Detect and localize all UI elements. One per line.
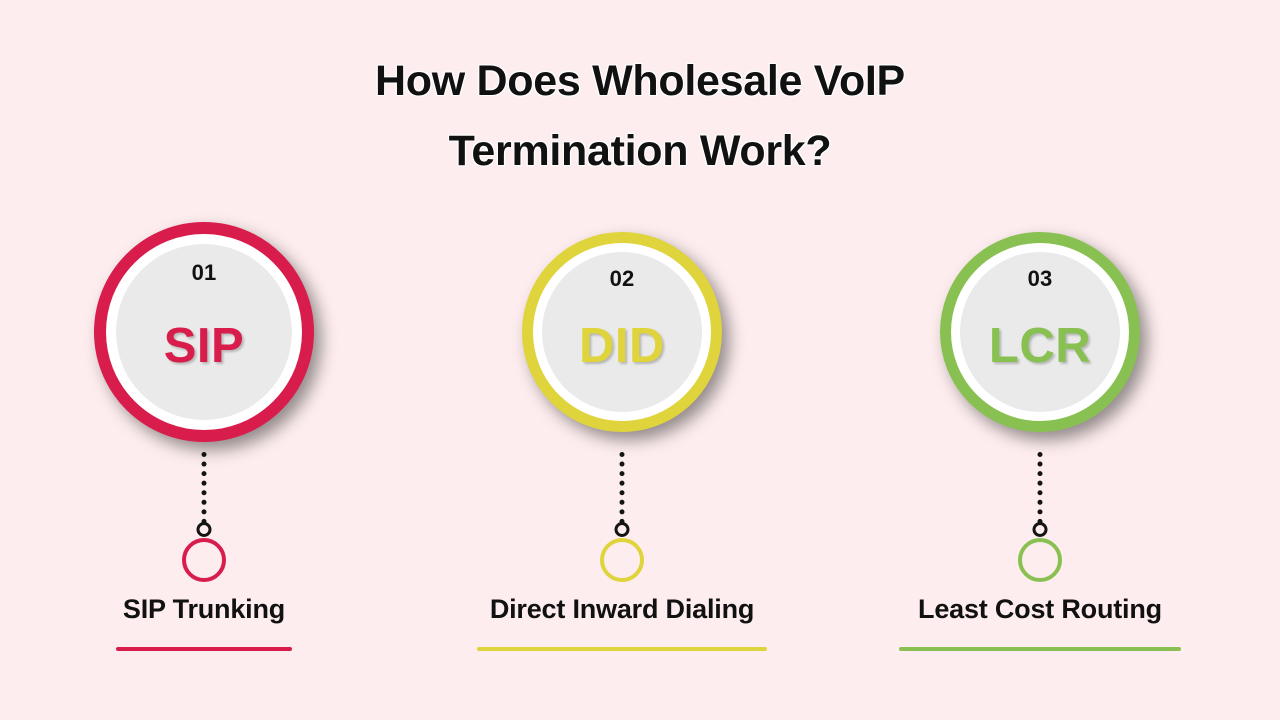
step-item-1: 01 SIP SIP Trunking [14,0,394,720]
step-badge-3[interactable]: 03 LCR [940,232,1140,432]
step-item-2: 02 DID Direct Inward Dialing [432,0,812,720]
step-abbr-2: DID [542,318,702,374]
step-item-3: 03 LCR Least Cost Routing [850,0,1230,720]
connector-dot-icon-1 [197,522,212,537]
step-badge-inner-1: 01 SIP [116,244,292,420]
step-caption-3: Least Cost Routing [850,594,1230,625]
step-abbr-3: LCR [960,318,1120,374]
connector-dot-icon-2 [615,522,630,537]
connector-ring-icon-3 [1018,538,1062,582]
step-badge-inner-3: 03 LCR [960,252,1120,412]
step-number-2: 02 [542,266,702,292]
connector-dotted-line-2 [620,452,625,524]
steps-container: 01 SIP SIP Trunking 02 DID [0,0,1280,720]
infographic-canvas: How Does Wholesale VoIP Termination Work… [0,0,1280,720]
step-caption-underline-3 [899,647,1181,651]
connector-dotted-line-1 [202,452,207,524]
step-caption-underline-1 [116,647,292,651]
step-caption-2: Direct Inward Dialing [432,594,812,625]
step-caption-1: SIP Trunking [14,594,394,625]
step-number-3: 03 [960,266,1120,292]
step-badge-inner-2: 02 DID [542,252,702,412]
step-badge-ring-1: 01 SIP [94,222,314,442]
step-number-1: 01 [116,260,292,286]
step-caption-underline-2 [477,647,767,651]
connector-dot-icon-3 [1033,522,1048,537]
step-badge-ring-3: 03 LCR [940,232,1140,432]
step-badge-2[interactable]: 02 DID [522,232,722,432]
step-abbr-1: SIP [116,318,292,374]
connector-dotted-line-3 [1038,452,1043,524]
step-badge-ring-2: 02 DID [522,232,722,432]
connector-ring-icon-1 [182,538,226,582]
connector-ring-icon-2 [600,538,644,582]
step-badge-1[interactable]: 01 SIP [94,222,314,442]
